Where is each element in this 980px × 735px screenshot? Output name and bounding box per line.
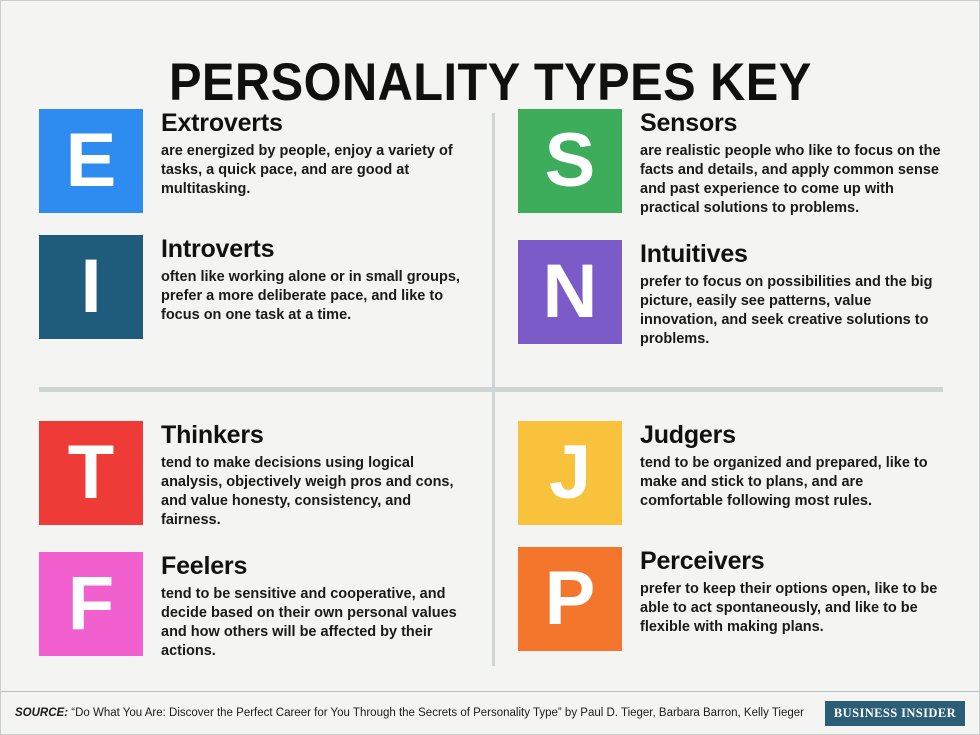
- entry-title-introverts: Introverts: [161, 236, 464, 263]
- entry-title-thinkers: Thinkers: [161, 422, 464, 449]
- personality-types-grid: E Extroverts are energized by people, en…: [39, 109, 943, 679]
- entry-title-perceivers: Perceivers: [640, 548, 943, 575]
- entry-title-extroverts: Extroverts: [161, 110, 464, 137]
- entry-title-intuitives: Intuitives: [640, 241, 943, 268]
- entry-description-feelers: tend to be sensitive and cooperative, an…: [161, 585, 464, 661]
- quadrant-top-right: S Sensors are realistic people who like …: [518, 109, 943, 349]
- entry-text-judgers: Judgers tend to be organized and prepare…: [622, 421, 943, 511]
- entry-description-thinkers: tend to make decisions using logical ana…: [161, 454, 464, 530]
- letter-tile-i: I: [39, 235, 143, 339]
- entry-text-sensors: Sensors are realistic people who like to…: [622, 109, 943, 218]
- letter-tile-f: F: [39, 552, 143, 656]
- letter-tile-j: J: [518, 421, 622, 525]
- entry-description-introverts: often like working alone or in small gro…: [161, 268, 464, 325]
- entry-perceivers: P Perceivers prefer to keep their option…: [518, 547, 943, 651]
- source-text: “Do What You Are: Discover the Perfect C…: [71, 707, 804, 719]
- infographic-poster: PERSONALITY TYPES KEY E Extroverts are e…: [0, 0, 980, 735]
- entry-title-sensors: Sensors: [640, 110, 943, 137]
- entry-intuitives: N Intuitives prefer to focus on possibil…: [518, 240, 943, 349]
- entry-sensors: S Sensors are realistic people who like …: [518, 109, 943, 218]
- entry-text-intuitives: Intuitives prefer to focus on possibilit…: [622, 240, 943, 349]
- entry-extroverts: E Extroverts are energized by people, en…: [39, 109, 464, 213]
- entry-description-judgers: tend to be organized and prepared, like …: [640, 454, 943, 511]
- letter-tile-s: S: [518, 109, 622, 213]
- quadrant-top-left: E Extroverts are energized by people, en…: [39, 109, 464, 339]
- entry-text-feelers: Feelers tend to be sensitive and coopera…: [143, 552, 464, 661]
- entry-title-judgers: Judgers: [640, 422, 943, 449]
- entry-text-thinkers: Thinkers tend to make decisions using lo…: [143, 421, 464, 530]
- entry-title-feelers: Feelers: [161, 553, 464, 580]
- entry-text-introverts: Introverts often like working alone or i…: [143, 235, 464, 325]
- entry-description-intuitives: prefer to focus on possibilities and the…: [640, 273, 943, 349]
- entry-description-perceivers: prefer to keep their options open, like …: [640, 580, 943, 637]
- entry-description-sensors: are realistic people who like to focus o…: [640, 142, 943, 218]
- entry-description-extroverts: are energized by people, enjoy a variety…: [161, 142, 464, 199]
- letter-tile-t: T: [39, 421, 143, 525]
- footer: SOURCE: “Do What You Are: Discover the P…: [1, 692, 979, 734]
- entry-text-perceivers: Perceivers prefer to keep their options …: [622, 547, 943, 637]
- entry-introverts: I Introverts often like working alone or…: [39, 235, 464, 339]
- letter-tile-p: P: [518, 547, 622, 651]
- letter-tile-e: E: [39, 109, 143, 213]
- entry-text-extroverts: Extroverts are energized by people, enjo…: [143, 109, 464, 199]
- entry-feelers: F Feelers tend to be sensitive and coope…: [39, 552, 464, 661]
- source-citation: SOURCE: “Do What You Are: Discover the P…: [15, 707, 825, 719]
- page-title: PERSONALITY TYPES KEY: [169, 55, 812, 111]
- quadrant-bottom-left: T Thinkers tend to make decisions using …: [39, 421, 464, 661]
- business-insider-logo: BUSINESS INSIDER: [825, 701, 965, 726]
- entry-judgers: J Judgers tend to be organized and prepa…: [518, 421, 943, 525]
- source-label: SOURCE:: [15, 707, 71, 719]
- entry-thinkers: T Thinkers tend to make decisions using …: [39, 421, 464, 530]
- quadrant-bottom-right: J Judgers tend to be organized and prepa…: [518, 421, 943, 651]
- letter-tile-n: N: [518, 240, 622, 344]
